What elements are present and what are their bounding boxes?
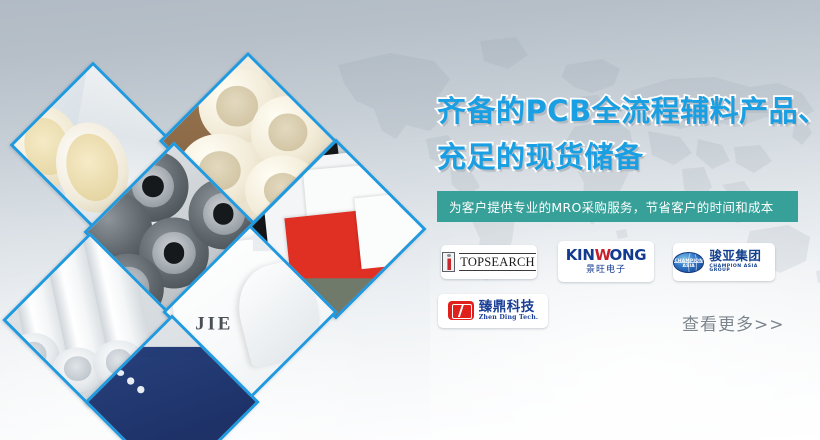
headline-line-1: 齐备的PCB全流程辅料产品、	[437, 97, 820, 126]
view-more-link[interactable]: 查看更多>>	[682, 310, 785, 335]
topsearch-mark-icon	[442, 252, 455, 272]
champion-asia-globe-text: CHAMPION ASIA	[674, 259, 703, 269]
kinwong-wordmark-c: ONG	[610, 246, 647, 264]
kinwong-wordmark: KINWONG	[566, 248, 647, 263]
subtitle-text: 为客户提供专业的MRO采购服务，节省客户的时间和成本	[449, 197, 774, 216]
zhen-ding-en: Zhen Ding Tech.	[479, 315, 539, 321]
globe-icon: CHAMPION ASIA	[673, 252, 704, 273]
champion-asia-cn: 骏亚集团	[709, 250, 775, 263]
topsearch-wordmark: TOPSEARCH	[459, 253, 536, 270]
logo-kinwong[interactable]: KINWONG 景旺电子	[558, 241, 654, 282]
logo-zhen-ding[interactable]: 臻鼎科技 Zhen Ding Tech.	[438, 294, 548, 328]
logo-champion-asia[interactable]: CHAMPION ASIA 骏亚集团 CHAMPION ASIA GROUP	[673, 243, 775, 281]
zhen-ding-cn: 臻鼎科技	[479, 301, 539, 315]
zhen-ding-mark-icon	[448, 301, 474, 320]
banner-content: 齐备的PCB全流程辅料产品、 充足的现货储备 为客户提供专业的MRO采购服务，节…	[430, 0, 820, 440]
kinwong-wordmark-w: W	[595, 246, 610, 264]
kinwong-wordmark-a: KIN	[566, 246, 595, 264]
champion-asia-en: CHAMPION ASIA GROUP	[709, 265, 775, 274]
promo-banner: JIE 齐备的PCB全流程辅料产品、 充足的现货储备 为客户提供专业的MRO采购…	[0, 0, 820, 440]
subtitle-bar: 为客户提供专业的MRO采购服务，节省客户的时间和成本	[437, 191, 798, 222]
kinwong-subtext: 景旺电子	[566, 266, 647, 275]
product-tile-cluster: JIE	[0, 0, 430, 440]
headline-line-2: 充足的现货储备	[437, 143, 644, 172]
logo-topsearch[interactable]: TOPSEARCH	[441, 245, 537, 279]
